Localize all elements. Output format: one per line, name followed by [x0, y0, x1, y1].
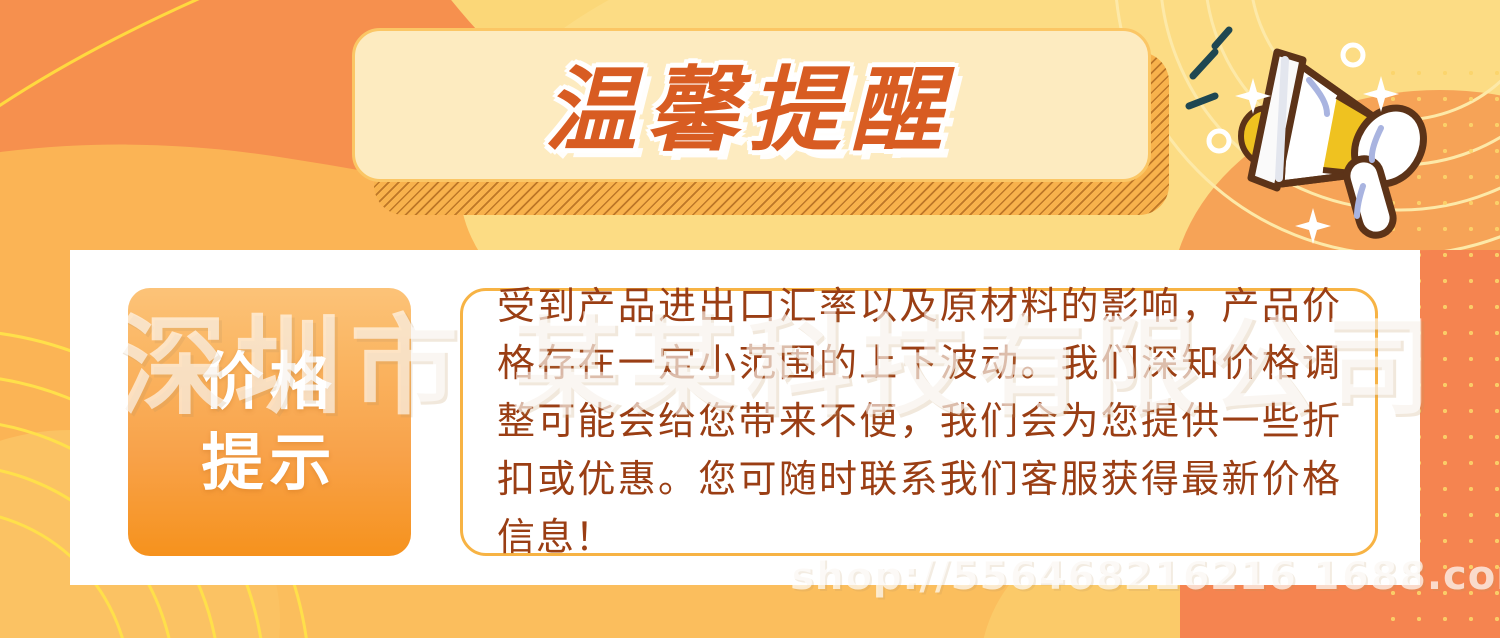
banner-root: 温馨提醒 [0, 0, 1500, 638]
price-label-line-1: 价格 [201, 346, 337, 417]
banner-title: 温馨提醒 [352, 28, 1145, 176]
notice-body-text: 受到产品进出口汇率以及原材料的影响，产品价格存在一定小范围的上下波动。我们深知价… [497, 278, 1341, 567]
title-card: 温馨提醒 [352, 28, 1147, 213]
price-label-box: 价格 提示 [128, 288, 411, 556]
dash-mark-icon [1189, 30, 1229, 106]
price-label-line-2: 提示 [201, 427, 337, 498]
notice-text-box: 受到产品进出口汇率以及原材料的影响，产品价格存在一定小范围的上下波动。我们深知价… [460, 288, 1378, 556]
megaphone-icon [1185, 18, 1485, 248]
